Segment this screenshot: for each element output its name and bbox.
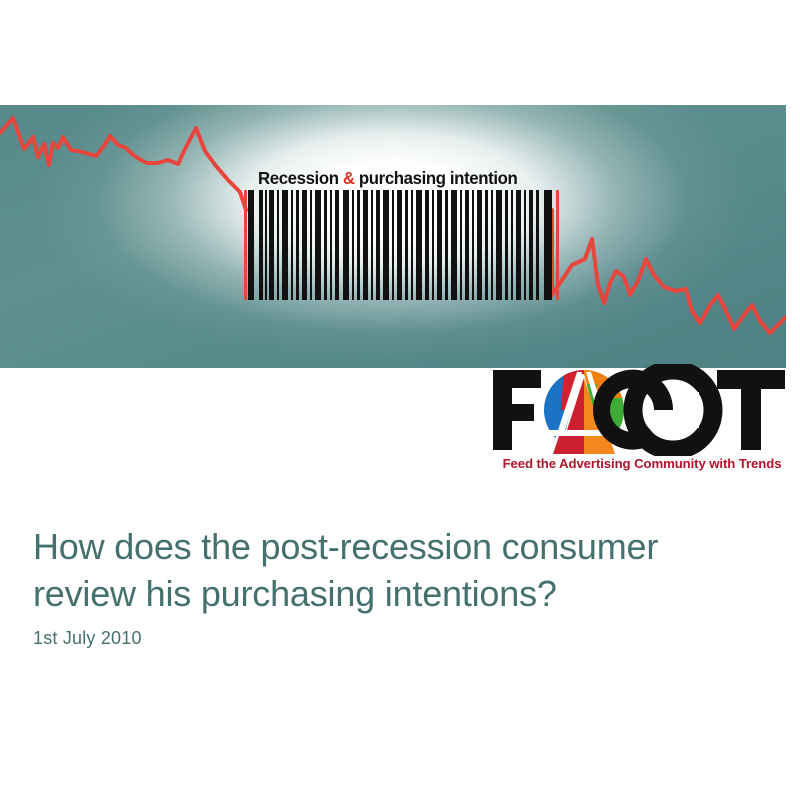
- barcode-guard-left: [244, 190, 247, 300]
- trend-line-left: [0, 118, 246, 210]
- logo-letter-f: [493, 370, 541, 450]
- fact-tagline: Feed the Advertising Community with Tren…: [495, 456, 789, 471]
- barcode-caption-ampersand: &: [343, 168, 355, 188]
- barcode-bars: [244, 190, 564, 300]
- barcode-bar-group: [259, 190, 539, 300]
- fact-wordmark: [489, 364, 789, 456]
- barcode-caption: Recession & purchasing intention: [258, 166, 531, 191]
- hero-banner: Recession & purchasing intention: [0, 105, 786, 368]
- logo-letter-t: [717, 370, 785, 450]
- fact-logo: Feed the Advertising Community with Tren…: [489, 364, 789, 480]
- barcode-guard-right: [556, 190, 559, 300]
- barcode-graphic: Recession & purchasing intention: [244, 160, 564, 300]
- barcode-caption-prefix: Recession: [258, 168, 343, 188]
- barcode-bar-right: [544, 190, 552, 300]
- slide-date: 1st July 2010: [33, 628, 142, 649]
- page-title: How does the post-recession consumer rev…: [33, 523, 763, 617]
- trend-line-right: [552, 210, 786, 333]
- barcode-caption-suffix: purchasing intention: [355, 168, 518, 188]
- barcode-bar: [248, 190, 254, 300]
